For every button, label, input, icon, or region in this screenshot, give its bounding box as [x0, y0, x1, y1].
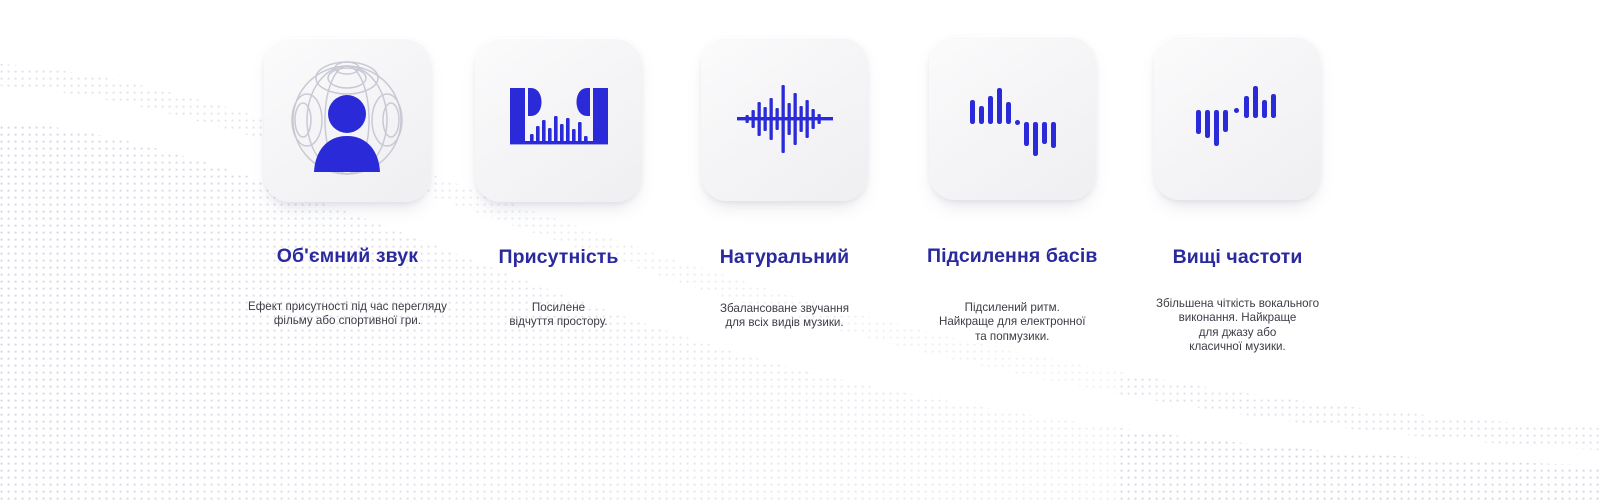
feature-description: Збалансоване звучання для всіх видів муз… — [720, 302, 849, 331]
feature-description: Підсилений ритм. Найкраще для електронно… — [939, 301, 1086, 344]
feature-item-treble-boost: Вищі частоти Збільшена чіткість вокально… — [1154, 36, 1321, 354]
feature-item-presence: Присутність Посилене відчуття простору. — [475, 38, 642, 330]
feature-title: Об'ємний звук — [277, 245, 418, 268]
balanced-waveform-icon — [735, 77, 835, 161]
surround-sound-icon — [283, 56, 411, 184]
feature-card-treble-boost — [1154, 36, 1321, 200]
headphones-equalizer-icon — [504, 82, 614, 158]
feature-list: Об'ємний звук Ефект присутності під час … — [0, 0, 1600, 501]
feature-card-presence — [475, 38, 642, 202]
feature-title: Підсилення басів — [927, 245, 1097, 268]
feature-item-surround-sound: Об'ємний звук Ефект присутності під час … — [248, 38, 447, 329]
feature-card-surround-sound — [264, 38, 431, 202]
feature-title: Вищі частоти — [1173, 246, 1303, 269]
feature-description: Збільшена чіткість вокального виконання.… — [1156, 297, 1319, 354]
feature-description: Посилене відчуття простору. — [509, 301, 607, 330]
feature-title: Натуральний — [720, 246, 850, 269]
feature-title: Присутність — [498, 246, 618, 269]
feature-description: Ефект присутності під час перегляду філь… — [248, 300, 447, 329]
treble-boost-waveform-icon — [1190, 76, 1286, 160]
bass-boost-waveform-icon — [964, 76, 1060, 160]
feature-item-natural: Натуральний Збалансоване звучання для вс… — [701, 37, 868, 331]
feature-item-bass-boost: Підсилення басів Підсилений ритм. Найкра… — [927, 36, 1097, 344]
feature-card-bass-boost — [929, 36, 1096, 200]
feature-card-natural — [701, 37, 868, 201]
